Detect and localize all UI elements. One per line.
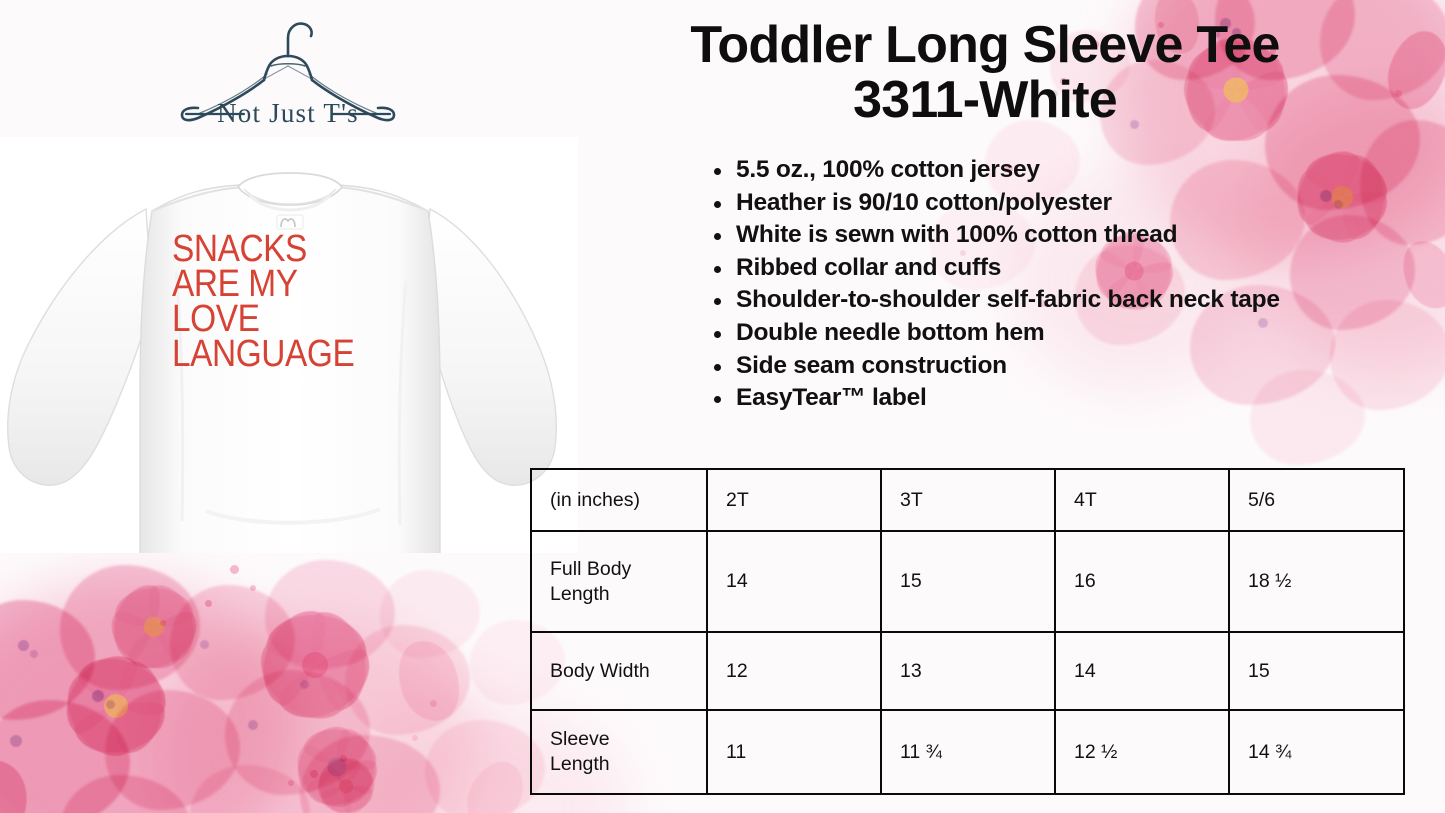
feature-list-item: White is sewn with 100% cotton thread [706, 219, 1346, 252]
feature-list: 5.5 oz., 100% cotton jersey Heather is 9… [706, 154, 1346, 415]
size-chart-table: (in inches) 2T 3T 4T 5/6 Full Body Lengt… [530, 468, 1405, 795]
shirt-print-text: SNACKS ARE MY LOVE LANGUAGE [172, 232, 392, 372]
feature-list-item: Shoulder-to-shoulder self-fabric back ne… [706, 284, 1346, 317]
size-chart-corner-label: (in inches) [531, 469, 707, 531]
size-chart-cell: 15 [881, 531, 1055, 632]
size-chart-column-header: 2T [707, 469, 881, 531]
feature-list-item: 5.5 oz., 100% cotton jersey [706, 154, 1346, 187]
size-chart-cell: 14 [1055, 632, 1229, 710]
size-chart-header-row: (in inches) 2T 3T 4T 5/6 [531, 469, 1404, 531]
neck-tag [277, 215, 303, 229]
product-listing-canvas: Not Just T's [0, 0, 1445, 813]
feature-list-item: Double needle bottom hem [706, 317, 1346, 350]
size-chart-cell: 16 [1055, 531, 1229, 632]
feature-list-item: Ribbed collar and cuffs [706, 252, 1346, 285]
brand-logo: Not Just T's [158, 8, 418, 136]
size-chart-cell: 14 [707, 531, 881, 632]
size-chart-row: Full Body Length 14 15 16 18 ½ [531, 531, 1404, 632]
size-chart-column-header: 3T [881, 469, 1055, 531]
product-photo: SNACKS ARE MY LOVE LANGUAGE [0, 137, 578, 553]
size-chart-cell: 14 ¾ [1229, 710, 1404, 794]
size-chart-cell: 11 ¾ [881, 710, 1055, 794]
product-title-line-2: 3311-White [640, 73, 1330, 128]
brand-logo-text: Not Just T's [217, 98, 359, 128]
size-chart-column-header: 5/6 [1229, 469, 1404, 531]
feature-list-item: Heather is 90/10 cotton/polyester [706, 187, 1346, 220]
size-chart-row: Sleeve Length 11 11 ¾ 12 ½ 14 ¾ [531, 710, 1404, 794]
size-chart-cell: 11 [707, 710, 881, 794]
size-chart-row-label: Full Body Length [531, 531, 707, 632]
product-title-line-1: Toddler Long Sleeve Tee [640, 18, 1330, 73]
size-chart-row-label: Body Width [531, 632, 707, 710]
size-chart-cell: 12 ½ [1055, 710, 1229, 794]
size-chart-row: Body Width 12 13 14 15 [531, 632, 1404, 710]
size-chart-row-label: Sleeve Length [531, 710, 707, 794]
feature-list-item: Side seam construction [706, 350, 1346, 383]
feature-list-item: EasyTear™ label [706, 382, 1346, 415]
size-chart-cell: 15 [1229, 632, 1404, 710]
size-chart-cell: 13 [881, 632, 1055, 710]
size-chart-column-header: 4T [1055, 469, 1229, 531]
size-chart-cell: 18 ½ [1229, 531, 1404, 632]
product-title: Toddler Long Sleeve Tee 3311-White [640, 18, 1330, 128]
size-chart-cell: 12 [707, 632, 881, 710]
